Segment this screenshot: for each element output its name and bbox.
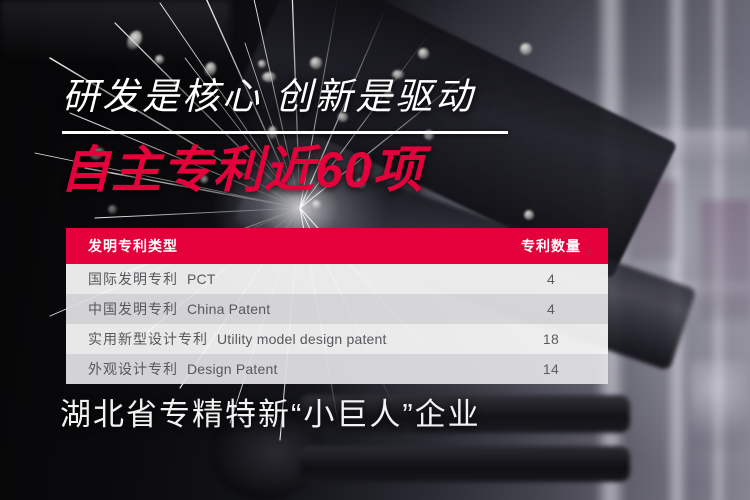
patent-type-en: Utility model design patent bbox=[208, 331, 387, 347]
footer-caption: 湖北省专精特新“小巨人”企业 bbox=[60, 399, 481, 430]
column-header-patent-type: 发明专利类型 bbox=[66, 228, 494, 264]
table-header-row: 发明专利类型 专利数量 bbox=[66, 228, 608, 264]
patent-type-cn: 外观设计专利 bbox=[88, 361, 178, 377]
patent-type-cn: 国际发明专利 bbox=[88, 271, 178, 287]
cell-patent-type: 外观设计专利Design Patent bbox=[66, 354, 494, 384]
table-row: 实用新型设计专利Utility model design patent 18 bbox=[66, 324, 608, 354]
table-row: 国际发明专利PCT 4 bbox=[66, 264, 608, 294]
cell-patent-count: 14 bbox=[494, 354, 608, 384]
patent-type-cn: 实用新型设计专利 bbox=[88, 331, 208, 347]
subtitle-patent-count: 自主专利近60项 bbox=[60, 145, 424, 195]
cell-patent-type: 中国发明专利China Patent bbox=[66, 294, 494, 324]
patent-type-en: Design Patent bbox=[178, 361, 278, 377]
patent-type-en: PCT bbox=[178, 271, 216, 287]
cell-patent-type: 实用新型设计专利Utility model design patent bbox=[66, 324, 494, 354]
poster-content: 研发是核心 创新是驱动 自主专利近60项 发明专利类型 专利数量 国际发明专利P… bbox=[0, 0, 750, 500]
patent-poster: 研发是核心 创新是驱动 自主专利近60项 发明专利类型 专利数量 国际发明专利P… bbox=[0, 0, 750, 500]
table-header: 发明专利类型 专利数量 bbox=[66, 228, 608, 264]
patent-type-cn: 中国发明专利 bbox=[88, 301, 178, 317]
cell-patent-count: 4 bbox=[494, 294, 608, 324]
cell-patent-count: 18 bbox=[494, 324, 608, 354]
column-header-patent-count: 专利数量 bbox=[494, 228, 608, 264]
table-body: 国际发明专利PCT 4 中国发明专利China Patent 4 实用新型设计专… bbox=[66, 264, 608, 384]
cell-patent-type: 国际发明专利PCT bbox=[66, 264, 494, 294]
cell-patent-count: 4 bbox=[494, 264, 608, 294]
table-row: 中国发明专利China Patent 4 bbox=[66, 294, 608, 324]
patent-table: 发明专利类型 专利数量 国际发明专利PCT 4 中国发明专利China Pate… bbox=[66, 228, 608, 384]
table-row: 外观设计专利Design Patent 14 bbox=[66, 354, 608, 384]
page-title: 研发是核心 创新是驱动 bbox=[62, 78, 475, 115]
title-divider bbox=[62, 131, 508, 134]
patent-type-en: China Patent bbox=[178, 301, 270, 317]
